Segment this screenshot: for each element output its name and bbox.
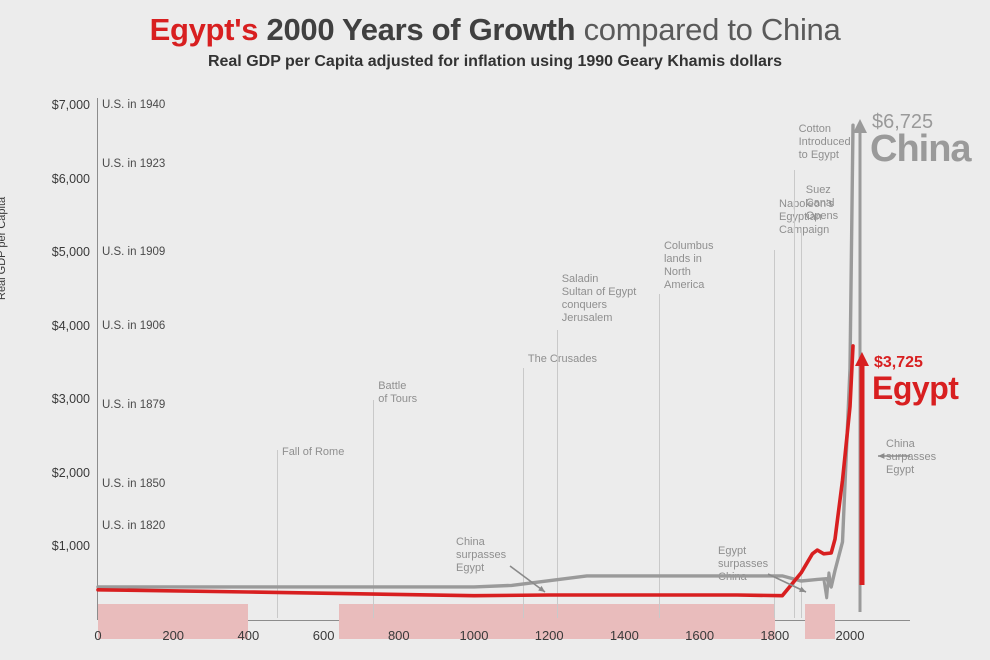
- y-tick-label: $1,000: [0, 539, 90, 553]
- annotation-stem: [801, 228, 802, 618]
- y-tick-label: $3,000: [0, 392, 90, 406]
- x-tick-label: 800: [388, 628, 410, 643]
- annotation-label: Columbus lands in North America: [664, 240, 714, 292]
- x-tick-label: 1200: [535, 628, 564, 643]
- x-tick-label: 1400: [610, 628, 639, 643]
- page-title: Egypt's 2000 Years of Growth compared to…: [0, 12, 990, 48]
- us-benchmark-label: U.S. in 1923: [102, 158, 165, 170]
- y-axis-line: [97, 98, 98, 620]
- china-series-label: China: [870, 128, 971, 171]
- x-tick-label: 0: [94, 628, 101, 643]
- y-tick-label: $7,000: [0, 98, 90, 112]
- china-surpasses-egypt-arrow-1: [510, 566, 545, 592]
- y-tick-label: $5,000: [0, 245, 90, 259]
- egypt-series-label: Egypt: [872, 370, 958, 407]
- us-benchmark-label: U.S. in 1909: [102, 246, 165, 258]
- series-line-china: [98, 125, 853, 587]
- annotation-stem: [277, 450, 278, 618]
- y-tick-label: $2,000: [0, 466, 90, 480]
- us-benchmark-label: U.S. in 1850: [102, 478, 165, 490]
- y-tick-label: $4,000: [0, 319, 90, 333]
- annotation-label: Fall of Rome: [282, 446, 344, 459]
- callout-label: China surpasses Egypt: [456, 536, 506, 575]
- annotation-label: The Crusades: [528, 353, 597, 366]
- title-suffix: compared to China: [584, 12, 841, 47]
- us-benchmark-label: U.S. in 1906: [102, 320, 165, 332]
- title-egypt: Egypt's: [150, 12, 267, 47]
- chart-subtitle: Real GDP per Capita adjusted for inflati…: [0, 53, 990, 71]
- annotation-label: Suez Canal Opens: [806, 184, 838, 223]
- chart-header: Egypt's 2000 Years of Growth compared to…: [0, 0, 990, 86]
- annotation-label: Cotton Introduced to Egypt: [799, 123, 851, 162]
- us-benchmark-label: U.S. in 1879: [102, 399, 165, 411]
- x-tick-label: 1000: [460, 628, 489, 643]
- us-benchmark-label: U.S. in 1820: [102, 520, 165, 532]
- y-tick-label: $6,000: [0, 172, 90, 186]
- x-tick-label: 1600: [685, 628, 714, 643]
- callout-label: China surpasses Egypt: [886, 438, 936, 477]
- annotation-stem: [373, 400, 374, 618]
- chart-root: Egypt's 2000 Years of Growth compared to…: [0, 0, 990, 660]
- us-benchmark-label: U.S. in 1940: [102, 99, 165, 111]
- x-tick-label: 1800: [760, 628, 789, 643]
- x-tick-label: 2000: [836, 628, 865, 643]
- annotation-stem: [557, 330, 558, 618]
- china-war-dip: [824, 573, 832, 598]
- annotation-stem: [794, 170, 795, 618]
- x-tick-label: 200: [162, 628, 184, 643]
- annotation-stem: [774, 250, 775, 618]
- egypt-growth-arrow: [855, 352, 869, 585]
- china-growth-arrow: [853, 119, 867, 612]
- annotation-label: Battle of Tours: [378, 380, 417, 406]
- x-tick-label: 400: [238, 628, 260, 643]
- annotation-label: Saladin Sultan of Egypt conquers Jerusal…: [562, 273, 637, 325]
- annotation-stem: [659, 294, 660, 618]
- annotation-stem: [523, 368, 524, 618]
- x-tick-label: 600: [313, 628, 335, 643]
- callout-label: Egypt surpasses China: [718, 545, 768, 584]
- shaded-band: [805, 604, 835, 639]
- title-main: 2000 Years of Growth: [267, 12, 584, 47]
